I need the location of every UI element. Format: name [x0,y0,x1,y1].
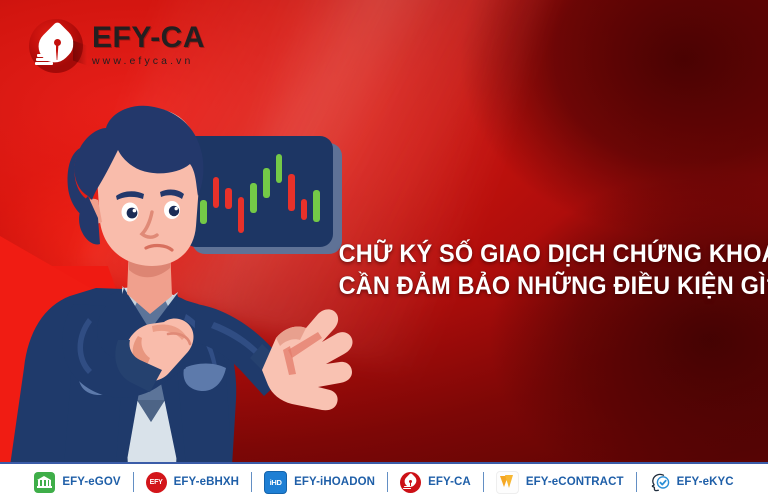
head-profile-check-icon [649,472,670,493]
footer-item-label: EFY-eKYC [677,476,734,488]
product-footer-bar: EFY-eGOVEFYEFY-eBHXHiHDEFY-iHOADONEFY-CA… [0,462,768,500]
brand-logo[interactable]: EFY-CA www.efyca.vn [29,17,241,73]
footer-item-label: EFY-eGOV [62,476,120,488]
footer-item-efy-ihoadon[interactable]: iHDEFY-iHOADON [252,471,387,494]
footer-item-efy-egov[interactable]: EFY-eGOV [22,472,132,493]
efy-circle-icon: EFY [146,472,167,493]
footer-item-efy-econtract[interactable]: EFY-eCONTRACT [484,471,636,494]
logo-wordmark: EFY-CA www.efyca.vn [92,23,242,67]
footer-item-efy-ekyc[interactable]: EFY-eKYC [637,472,746,493]
footer-item-label: EFY-eBHXH [174,476,239,488]
logo-title: EFY-CA [92,23,242,53]
businessman-svg [0,100,360,466]
footer-item-efy-ca[interactable]: EFY-CA [388,472,483,493]
headline-line-1: CHỮ KÝ SỐ GIAO DỊCH CHỨNG KHOÁN [339,238,734,270]
footer-divider [251,472,252,492]
footer-divider [483,472,484,492]
nib-stem [56,44,59,60]
footer-divider [636,472,637,492]
orange-checkmark-icon [496,471,519,494]
logo-website: www.efyca.vn [92,56,242,67]
footer-item-label: EFY-CA [428,476,471,488]
footer-divider [133,472,134,492]
headline: CHỮ KÝ SỐ GIAO DỊCH CHỨNG KHOÁN CẦN ĐẢM … [326,238,746,302]
footer-item-label: EFY-eCONTRACT [526,476,624,488]
poster-canvas: EFY-CA www.efyca.vn [0,0,768,500]
ihd-badge-icon: iHD [264,471,287,494]
document-lines-icon [35,54,54,66]
headline-line-2: CẦN ĐẢM BẢO NHỮNG ĐIỀU KIỆN GÌ? [339,270,734,302]
footer-divider [387,472,388,492]
bank-building-icon [34,472,55,493]
businessman-illustration [0,100,360,466]
pen-nib-circle-icon [400,472,421,493]
footer-item-list: EFY-eGOVEFYEFY-eBHXHiHDEFY-iHOADONEFY-CA… [22,471,745,494]
footer-item-efy-ebhxh[interactable]: EFYEFY-eBHXH [134,472,251,493]
footer-item-label: EFY-iHOADON [294,476,375,488]
